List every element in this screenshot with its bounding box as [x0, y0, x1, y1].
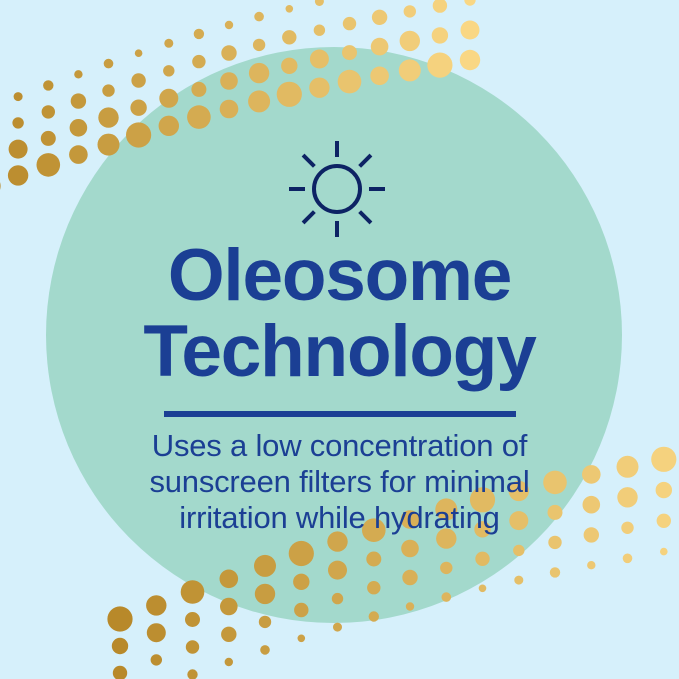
body-line-1: Uses a low concentration of: [0, 428, 679, 464]
page-title: Oleosome Technology: [0, 238, 679, 390]
title-line-1: Oleosome: [0, 238, 679, 314]
promo-card: Oleosome Technology Uses a low concentra…: [0, 0, 679, 679]
divider-rule: [164, 411, 516, 417]
body-line-2: sunscreen filters for minimal: [0, 464, 679, 500]
content-stack: Oleosome Technology Uses a low concentra…: [0, 0, 679, 679]
body-line-3: irritation while hydrating: [0, 500, 679, 536]
title-line-2: Technology: [0, 314, 679, 390]
body-copy: Uses a low concentration of sunscreen fi…: [0, 428, 679, 536]
